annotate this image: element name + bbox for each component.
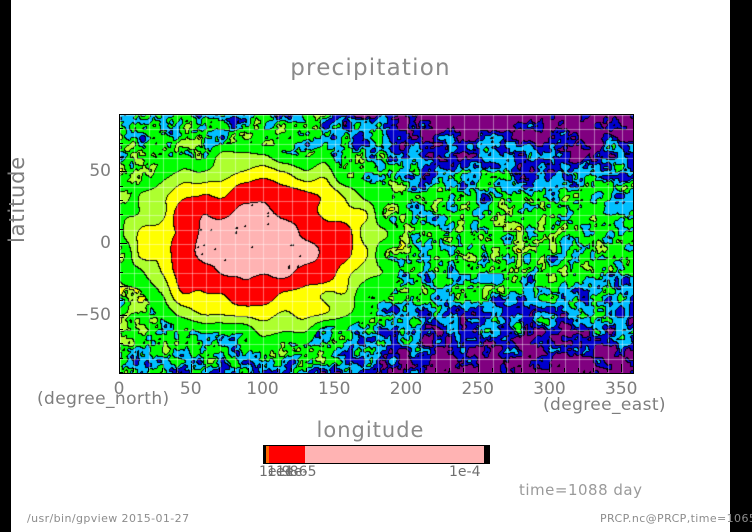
x-axis-unit-label: (degree_east) — [543, 395, 666, 415]
x-tick-mark — [521, 368, 522, 372]
x-tick-label: 250 — [462, 379, 494, 399]
x-tick-mark — [363, 368, 364, 372]
x-tick-mark — [593, 368, 594, 372]
colorbar-tick-label: 1e-4 — [449, 464, 480, 480]
y-tick-label: −50 — [73, 305, 111, 325]
x-tick-mark — [392, 368, 393, 372]
x-tick-label: 150 — [318, 379, 350, 399]
x-tick-mark — [148, 368, 149, 372]
y-tick-mark — [119, 157, 123, 158]
y-tick-mark — [119, 300, 123, 301]
y-tick-mark — [119, 200, 123, 201]
x-tick-mark — [578, 368, 579, 372]
x-tick-label: 50 — [180, 379, 202, 399]
y-tick-mark — [119, 286, 123, 287]
x-tick-mark — [377, 368, 378, 372]
y-tick-label: 0 — [73, 233, 111, 253]
x-tick-mark — [492, 368, 493, 372]
x-tick-mark — [334, 364, 335, 372]
colorbar-segment — [305, 446, 484, 463]
x-tick-mark — [262, 364, 263, 372]
y-tick-mark — [119, 272, 123, 273]
x-tick-mark — [291, 368, 292, 372]
y-tick-mark — [119, 315, 127, 316]
plot-paper: precipitation 050100150200250300350500−5… — [11, 0, 730, 532]
x-tick-mark — [449, 368, 450, 372]
y-tick-mark — [119, 171, 127, 172]
y-tick-mark — [119, 114, 123, 115]
x-tick-mark — [478, 364, 479, 372]
x-tick-mark — [535, 368, 536, 372]
figure-canvas: precipitation 050100150200250300350500−5… — [0, 0, 752, 532]
footer-command: /usr/bin/gpview 2015-01-27 — [27, 512, 189, 525]
x-tick-mark — [162, 368, 163, 372]
x-tick-mark — [506, 368, 507, 372]
y-tick-mark — [119, 243, 127, 244]
x-tick-mark — [219, 368, 220, 372]
x-tick-mark — [234, 368, 235, 372]
x-tick-mark — [463, 368, 464, 372]
x-tick-mark — [119, 364, 120, 372]
page-title: precipitation — [11, 55, 730, 81]
x-tick-mark — [406, 364, 407, 372]
y-tick-mark — [119, 257, 123, 258]
y-tick-mark — [119, 128, 123, 129]
x-tick-mark — [607, 368, 608, 372]
x-tick-mark — [349, 368, 350, 372]
x-tick-mark — [549, 364, 550, 372]
y-tick-mark — [119, 329, 123, 330]
x-tick-mark — [306, 368, 307, 372]
y-tick-mark — [119, 358, 123, 359]
y-tick-mark — [119, 372, 123, 373]
footer-source: PRCP.nc@PRCP,time=1065:1095 — [600, 512, 752, 525]
x-tick-mark — [435, 368, 436, 372]
x-tick-mark — [564, 368, 565, 372]
x-tick-label: 200 — [390, 379, 422, 399]
x-tick-mark — [248, 368, 249, 372]
colorbar-segment — [269, 446, 305, 463]
colorbar — [263, 445, 490, 464]
precipitation-heatmap — [120, 115, 633, 373]
x-tick-mark — [191, 364, 192, 372]
y-axis-label: latitude — [5, 156, 29, 243]
time-annotation: time=1088 day — [519, 481, 643, 499]
x-tick-mark — [320, 368, 321, 372]
colorbar-segment — [484, 446, 489, 463]
x-tick-mark — [176, 368, 177, 372]
x-tick-mark — [420, 368, 421, 372]
x-tick-mark — [205, 368, 206, 372]
x-tick-label: 100 — [246, 379, 278, 399]
x-axis-label: longitude — [11, 418, 730, 442]
y-tick-mark — [119, 186, 123, 187]
x-tick-mark — [621, 364, 622, 372]
contour-plot-area — [119, 114, 634, 374]
y-tick-label: 50 — [73, 161, 111, 181]
y-tick-mark — [119, 229, 123, 230]
x-tick-mark — [133, 368, 134, 372]
y-tick-mark — [119, 214, 123, 215]
y-tick-mark — [119, 143, 123, 144]
y-axis-unit-label: (degree_north) — [37, 389, 170, 409]
y-tick-mark — [119, 343, 123, 344]
x-tick-mark — [277, 368, 278, 372]
colorbar-tick-label: 1e-5 — [285, 464, 316, 480]
